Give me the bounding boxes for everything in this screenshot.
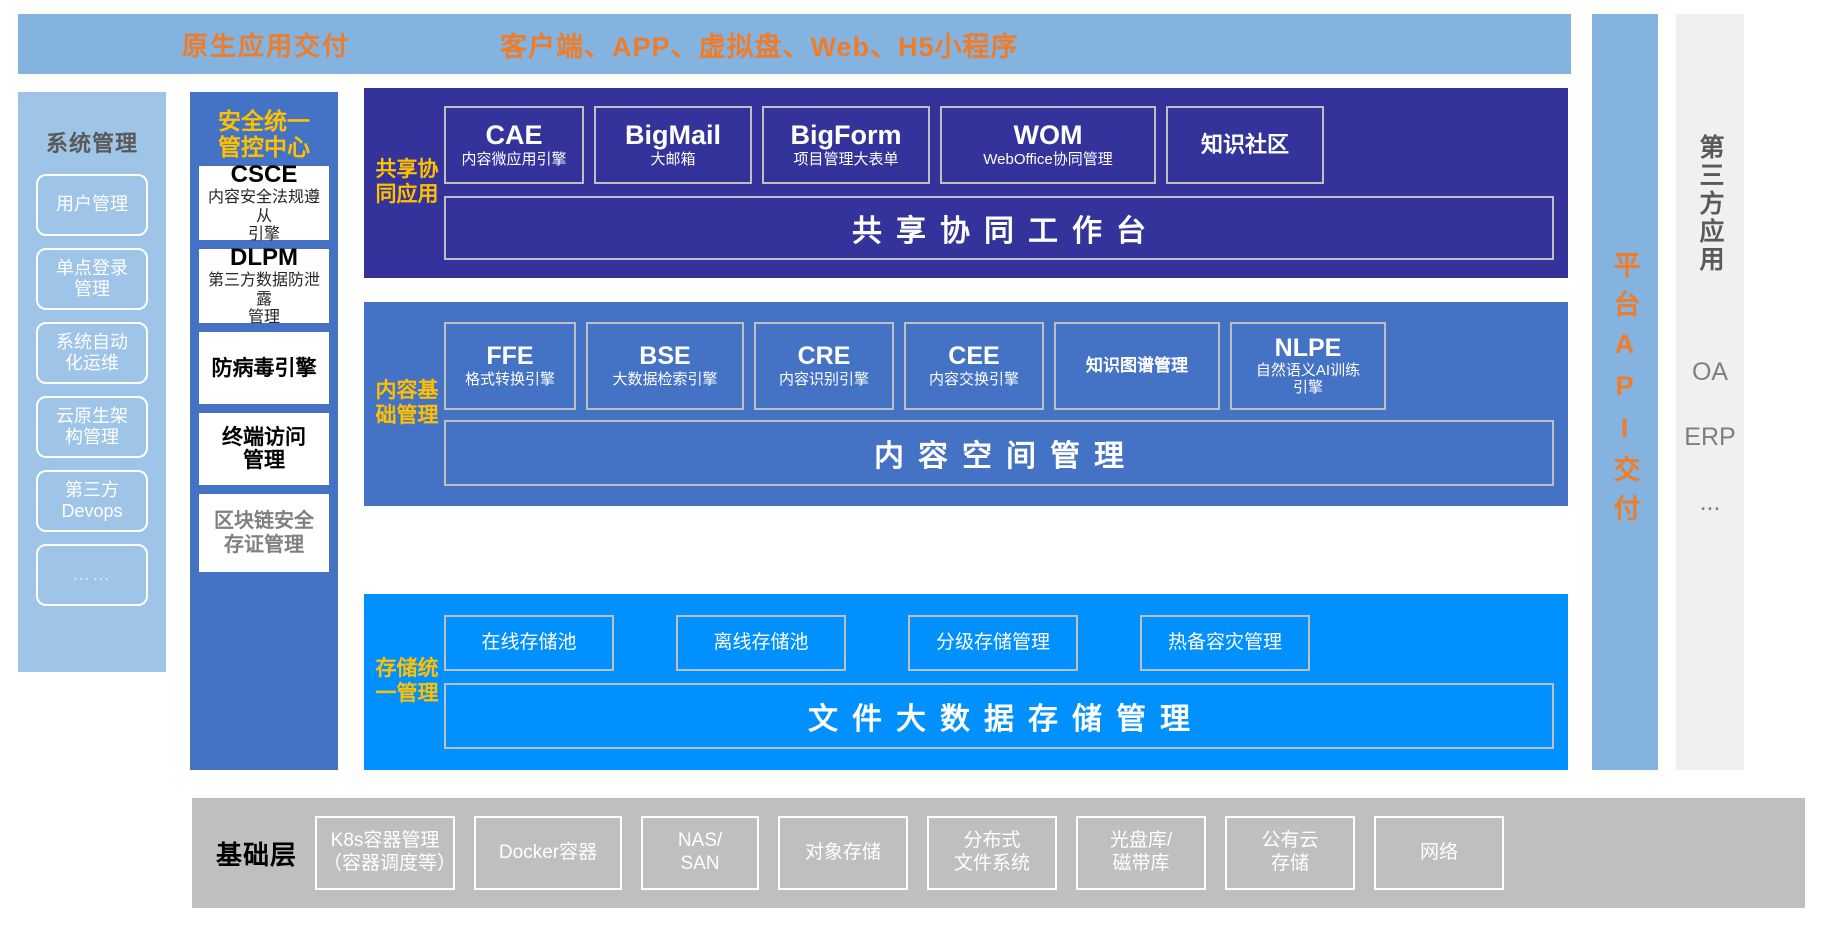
engine-card-abbr: 知识图谱管理: [1086, 357, 1188, 375]
engine-card-abbr: NLPE: [1275, 335, 1342, 362]
sys-item-label: ……: [72, 564, 112, 585]
app-card-sub: 大邮箱: [650, 152, 695, 169]
infra-item-label: Docker容器: [499, 842, 597, 865]
infrastructure-items: K8s容器管理 （容器调度等） Docker容器 NAS/ SAN 对象存储 分…: [315, 816, 1805, 890]
native-app-delivery-banner: 原生应用交付 客户端、APP、虚拟盘、Web、H5小程序: [18, 14, 1571, 74]
engine-card-ffe[interactable]: FFE 格式转换引擎: [444, 322, 576, 410]
infra-item-label: 光盘库/ 磁带库: [1110, 830, 1172, 876]
content-base-management-band: 内容基 础管理 FFE 格式转换引擎 BSE 大数据检索引擎 CRE 内容识别引…: [364, 302, 1568, 506]
engine-card-knowledge-graph[interactable]: 知识图谱管理: [1054, 322, 1220, 410]
engine-card-nlpe[interactable]: NLPE 自然语义AI训练 引擎: [1230, 322, 1386, 410]
sys-item-third-party-devops[interactable]: 第三方 Devops: [36, 470, 148, 532]
storage-card-online-pool[interactable]: 在线存储池: [444, 615, 614, 671]
engine-card-sub: 内容识别引擎: [779, 372, 869, 389]
security-card-abbr: CSCE: [231, 162, 298, 188]
app-card-cae[interactable]: CAE 内容微应用引擎: [444, 106, 584, 184]
sys-item-sso-management[interactable]: 单点登录 管理: [36, 248, 148, 310]
app-card-abbr: BigForm: [791, 121, 902, 150]
architecture-diagram: 原生应用交付 客户端、APP、虚拟盘、Web、H5小程序 平台API交付 第三方…: [0, 0, 1823, 928]
security-card-dlpm[interactable]: DLPM 第三方数据防泄露 管理: [199, 249, 329, 323]
security-card-abbr: DLPM: [230, 245, 298, 271]
band2-label: 内容基 础管理: [370, 379, 444, 429]
infra-item-docker[interactable]: Docker容器: [474, 816, 622, 890]
third-party-item-oa: OA: [1692, 358, 1728, 387]
app-card-abbr: 知识社区: [1201, 133, 1289, 156]
platform-api-label: 平台API交付: [1606, 251, 1645, 533]
band3-card-row: 在线存储池 离线存储池 分级存储管理 热备容灾管理: [444, 615, 1554, 671]
security-card-abbr: 区块链安全 存证管理: [214, 509, 314, 557]
storage-card-tiered-storage[interactable]: 分级存储管理: [908, 615, 1078, 671]
app-card-sub: WebOffice协同管理: [983, 152, 1112, 169]
app-card-wom[interactable]: WOM WebOffice协同管理: [940, 106, 1156, 184]
engine-card-cre[interactable]: CRE 内容识别引擎: [754, 322, 894, 410]
engine-card-sub: 内容交换引擎: [929, 372, 1019, 389]
sys-item-cloud-native-arch[interactable]: 云原生架 构管理: [36, 396, 148, 458]
engine-card-abbr: BSE: [639, 343, 690, 370]
band2-card-row: FFE 格式转换引擎 BSE 大数据检索引擎 CRE 内容识别引擎 CEE 内容…: [444, 322, 1554, 410]
security-card-sub: 内容安全法规遵从 引擎: [201, 189, 327, 245]
app-card-bigmail[interactable]: BigMail 大邮箱: [594, 106, 752, 184]
infra-item-public-cloud-storage[interactable]: 公有云 存储: [1225, 816, 1355, 890]
app-card-bigform[interactable]: BigForm 项目管理大表单: [762, 106, 930, 184]
security-card-antivirus-engine[interactable]: 防病毒引擎: [199, 332, 329, 404]
engine-card-sub: 大数据检索引擎: [612, 372, 717, 389]
system-management-title: 系统管理: [46, 126, 138, 158]
app-card-abbr: BigMail: [625, 121, 721, 150]
storage-card-label: 在线存储池: [481, 633, 576, 653]
security-card-sub: 第三方数据防泄露 管理: [201, 272, 327, 328]
app-card-sub: 项目管理大表单: [793, 152, 898, 169]
file-bigdata-storage-bar[interactable]: 文件大数据存储管理: [444, 683, 1554, 749]
sys-item-label: 用户管理: [56, 194, 128, 215]
infra-item-label: 网络: [1420, 842, 1458, 865]
engine-card-abbr: CEE: [948, 343, 999, 370]
app-card-knowledge-community[interactable]: 知识社区: [1166, 106, 1324, 184]
app-card-sub: 内容微应用引擎: [461, 152, 566, 169]
security-card-terminal-access[interactable]: 终端访问 管理: [199, 413, 329, 485]
sys-item-label: 第三方 Devops: [61, 480, 122, 522]
storage-card-label: 热备容灾管理: [1168, 633, 1282, 653]
infra-item-label: 分布式 文件系统: [954, 830, 1030, 876]
infra-item-network[interactable]: 网络: [1374, 816, 1504, 890]
security-card-abbr: 终端访问 管理: [222, 426, 306, 472]
app-card-abbr: CAE: [485, 121, 542, 150]
infra-item-label: 对象存储: [805, 842, 881, 865]
security-center-title: 安全统一 管控中心: [218, 108, 310, 160]
engine-card-cee[interactable]: CEE 内容交换引擎: [904, 322, 1044, 410]
sys-item-label: 系统自动 化运维: [56, 332, 128, 374]
system-management-column: 系统管理 用户管理 单点登录 管理 系统自动 化运维 云原生架 构管理 第三方 …: [18, 92, 166, 672]
shared-collaboration-workbench-bar[interactable]: 共享协同工作台: [444, 196, 1554, 260]
sys-item-label: 单点登录 管理: [56, 258, 128, 300]
infrastructure-layer: 基础层 K8s容器管理 （容器调度等） Docker容器 NAS/ SAN 对象…: [192, 798, 1805, 908]
security-card-abbr: 防病毒引擎: [212, 357, 317, 380]
infra-item-object-storage[interactable]: 对象存储: [778, 816, 908, 890]
band3-label: 存储统 一管理: [370, 657, 444, 707]
band1-card-row: CAE 内容微应用引擎 BigMail 大邮箱 BigForm 项目管理大表单 …: [444, 106, 1554, 184]
engine-card-abbr: CRE: [798, 343, 851, 370]
shared-collaboration-band: 共享协 同应用 CAE 内容微应用引擎 BigMail 大邮箱 BigForm …: [364, 88, 1568, 278]
infra-item-k8s[interactable]: K8s容器管理 （容器调度等）: [315, 816, 455, 890]
storage-card-label: 分级存储管理: [936, 633, 1050, 653]
engine-card-bse[interactable]: BSE 大数据检索引擎: [586, 322, 744, 410]
infra-item-nas-san[interactable]: NAS/ SAN: [641, 816, 759, 890]
sys-item-more[interactable]: ……: [36, 544, 148, 606]
security-card-blockchain-evidence[interactable]: 区块链安全 存证管理: [199, 494, 329, 572]
app-card-abbr: WOM: [1014, 121, 1083, 150]
sys-item-automated-ops[interactable]: 系统自动 化运维: [36, 322, 148, 384]
band1-label: 共享协 同应用: [370, 158, 444, 208]
storage-management-band: 存储统 一管理 在线存储池 离线存储池 分级存储管理 热备容灾管理 文件大数据存…: [364, 594, 1568, 770]
security-card-csce[interactable]: CSCE 内容安全法规遵从 引擎: [199, 166, 329, 240]
third-party-title: 第三方应用: [1692, 134, 1728, 274]
security-control-center-column: 安全统一 管控中心 CSCE 内容安全法规遵从 引擎 DLPM 第三方数据防泄露…: [190, 92, 338, 770]
infra-item-label: K8s容器管理 （容器调度等）: [323, 830, 447, 876]
engine-card-abbr: FFE: [486, 343, 533, 370]
infra-item-distributed-fs[interactable]: 分布式 文件系统: [927, 816, 1057, 890]
infra-item-label: NAS/ SAN: [678, 830, 722, 876]
engine-card-sub: 自然语义AI训练 引擎: [1256, 363, 1360, 397]
storage-card-label: 离线存储池: [713, 633, 808, 653]
third-party-item-more: ...: [1700, 488, 1721, 517]
infra-item-optical-tape-library[interactable]: 光盘库/ 磁带库: [1076, 816, 1206, 890]
infra-item-label: 公有云 存储: [1262, 830, 1319, 876]
content-space-management-bar[interactable]: 内容空间管理: [444, 420, 1554, 486]
third-party-apps-column: 第三方应用 OA ERP ...: [1676, 14, 1744, 770]
storage-card-offline-pool[interactable]: 离线存储池: [676, 615, 846, 671]
sys-item-user-management[interactable]: 用户管理: [36, 174, 148, 236]
banner-right-label: 客户端、APP、虚拟盘、Web、H5小程序: [500, 25, 1019, 64]
platform-api-delivery-column: 平台API交付: [1592, 14, 1658, 770]
sys-item-label: 云原生架 构管理: [56, 406, 128, 448]
infrastructure-label: 基础层: [216, 835, 297, 872]
third-party-item-erp: ERP: [1684, 423, 1735, 452]
banner-left-label: 原生应用交付: [182, 26, 350, 63]
engine-card-sub: 格式转换引擎: [465, 372, 555, 389]
storage-card-hot-backup-dr[interactable]: 热备容灾管理: [1140, 615, 1310, 671]
